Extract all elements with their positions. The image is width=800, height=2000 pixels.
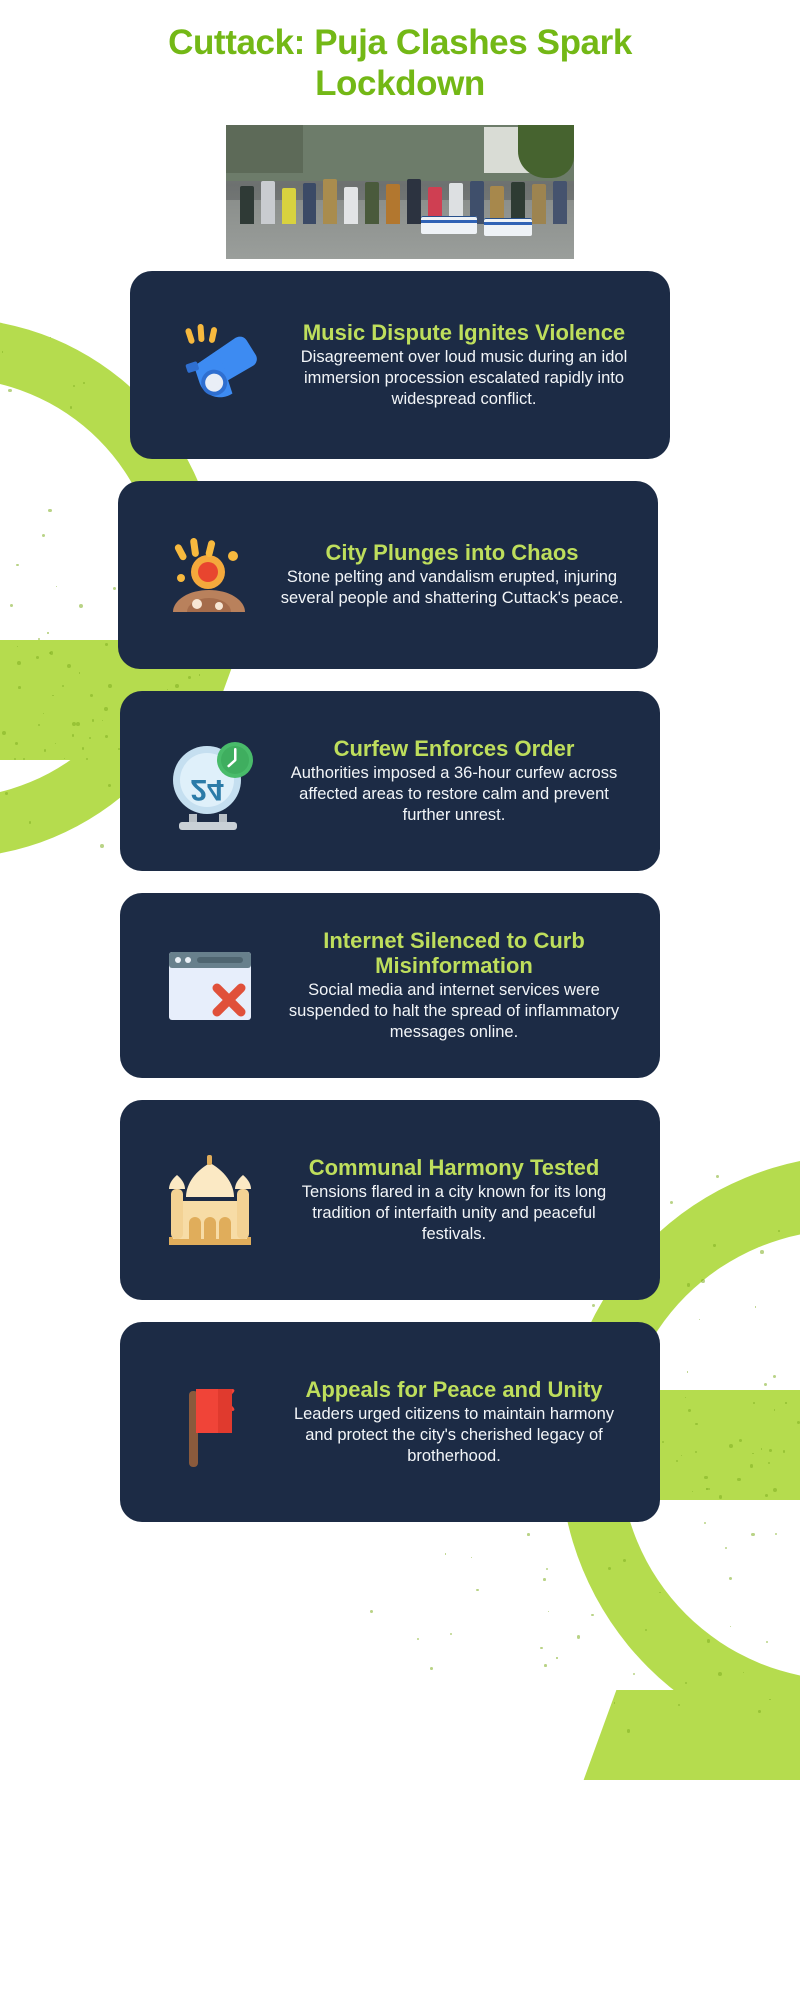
- whistle-icon: [156, 301, 284, 429]
- decorative-speck: [445, 1553, 446, 1554]
- card-peace-appeals[interactable]: Appeals for Peace and Unity Leaders urge…: [120, 1322, 660, 1522]
- decorative-speck: [540, 1647, 543, 1650]
- decorative-speck: [577, 1635, 580, 1638]
- decorative-speck: [476, 1589, 478, 1591]
- decorative-speck: [645, 1629, 647, 1631]
- decorative-speck: [775, 1533, 777, 1535]
- card-title: Music Dispute Ignites Violence: [288, 320, 640, 345]
- card-text: Leaders urged citizens to maintain harmo…: [278, 1404, 630, 1466]
- card-communal-harmony[interactable]: Communal Harmony Tested Tensions flared …: [120, 1100, 660, 1300]
- card-text: Authorities imposed a 36-hour curfew acr…: [278, 763, 630, 825]
- decorative-speck: [743, 1672, 744, 1673]
- card-text: Social media and internet services were …: [278, 980, 630, 1042]
- decorative-speck: [527, 1533, 530, 1536]
- decorative-speck: [725, 1547, 727, 1549]
- card-text: Stone pelting and vandalism erupted, inj…: [276, 567, 628, 609]
- decorative-speck: [608, 1567, 611, 1570]
- hero-image-wrap: [0, 125, 800, 259]
- card-title: City Plunges into Chaos: [276, 540, 628, 565]
- infographic-page: Cuttack: Puja Clashes Spark Lockdown: [0, 0, 800, 2000]
- card-body: Music Dispute Ignites Violence Disagreem…: [284, 320, 644, 409]
- card-text: Tensions flared in a city known for its …: [278, 1182, 630, 1244]
- card-title: Communal Harmony Tested: [278, 1155, 630, 1180]
- decorative-speck: [685, 1682, 687, 1684]
- decorative-speck: [430, 1667, 433, 1670]
- decorative-speck: [766, 1641, 768, 1643]
- decorative-speck: [633, 1673, 635, 1675]
- card-body: Internet Silenced to Curb Misinformation…: [274, 928, 634, 1043]
- card-music-dispute[interactable]: Music Dispute Ignites Violence Disagreem…: [130, 271, 670, 459]
- decorative-speck: [751, 1533, 754, 1536]
- decorative-speck: [543, 1578, 546, 1581]
- browser-error-icon: [146, 921, 274, 1049]
- card-internet-shutdown[interactable]: Internet Silenced to Curb Misinformation…: [120, 893, 660, 1078]
- cards-list: Music Dispute Ignites Violence Disagreem…: [0, 271, 800, 1522]
- card-curfew[interactable]: 24 Curfew Enforces Order Authorities imp…: [120, 691, 660, 871]
- decorative-speck: [591, 1614, 594, 1617]
- card-title: Appeals for Peace and Unity: [278, 1377, 630, 1402]
- decorative-speck: [623, 1559, 626, 1562]
- svg-text:24: 24: [190, 773, 224, 806]
- decorative-speck: [678, 1704, 680, 1706]
- decorative-speck: [546, 1568, 548, 1570]
- hero-crowd: [226, 162, 574, 224]
- card-text: Disagreement over loud music during an i…: [288, 347, 640, 409]
- card-body: City Plunges into Chaos Stone pelting an…: [272, 540, 632, 609]
- decorative-speck: [730, 1626, 731, 1627]
- decorative-speck: [704, 1522, 706, 1524]
- card-body: Appeals for Peace and Unity Leaders urge…: [274, 1377, 634, 1466]
- decorative-speck: [544, 1664, 547, 1667]
- decorative-speck: [548, 1611, 549, 1612]
- decorative-speck: [471, 1557, 472, 1558]
- meteor-icon: [144, 511, 272, 639]
- decorative-speck: [659, 1592, 660, 1593]
- decorative-speck: [556, 1657, 557, 1658]
- clock-24-icon: 24: [146, 717, 274, 845]
- card-title: Curfew Enforces Order: [278, 736, 630, 761]
- decorative-speck: [769, 1699, 770, 1700]
- decorative-speck: [370, 1610, 373, 1613]
- page-title: Cuttack: Puja Clashes Spark Lockdown: [90, 22, 710, 105]
- mosque-icon: [146, 1136, 274, 1264]
- decorative-speck: [450, 1633, 452, 1635]
- decorative-speck: [707, 1639, 711, 1643]
- decorative-speck: [758, 1710, 761, 1713]
- header: Cuttack: Puja Clashes Spark Lockdown: [0, 0, 800, 105]
- card-body: Communal Harmony Tested Tensions flared …: [274, 1155, 634, 1244]
- decorative-speck: [614, 1702, 616, 1704]
- decorative-speck: [729, 1577, 732, 1580]
- card-city-chaos[interactable]: City Plunges into Chaos Stone pelting an…: [118, 481, 658, 669]
- decorative-bar-right-lower: [584, 1690, 800, 1780]
- card-body: Curfew Enforces Order Authorities impose…: [274, 736, 634, 825]
- card-title: Internet Silenced to Curb Misinformation: [278, 928, 630, 978]
- red-flag-icon: [146, 1358, 274, 1486]
- hero-photo: [226, 125, 574, 259]
- decorative-speck: [627, 1729, 631, 1733]
- decorative-speck: [417, 1638, 419, 1640]
- decorative-speck: [718, 1672, 722, 1676]
